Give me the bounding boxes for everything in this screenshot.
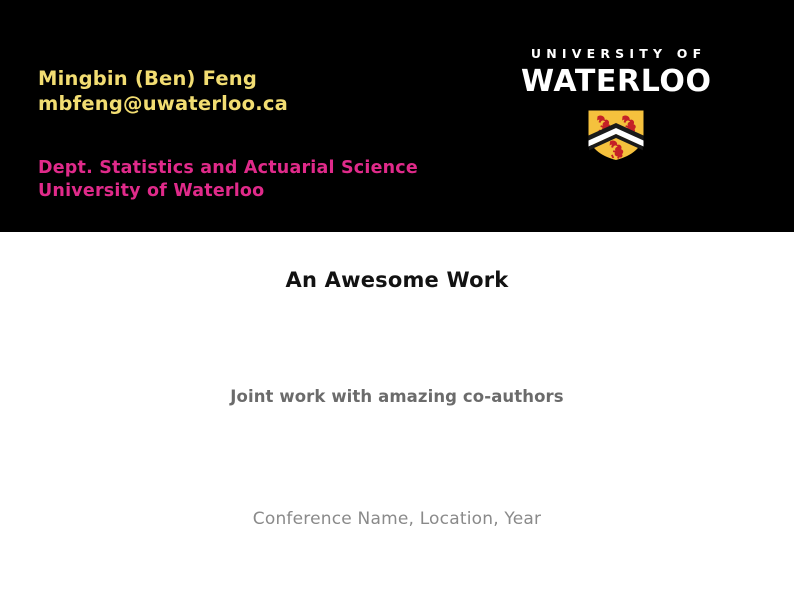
coauthors-line: Joint work with amazing co-authors	[0, 387, 794, 406]
author-block: Mingbin (Ben) Feng mbfeng@uwaterloo.ca	[38, 66, 288, 117]
conference-line: Conference Name, Location, Year	[0, 509, 794, 529]
author-email[interactable]: mbfeng@uwaterloo.ca	[38, 91, 288, 116]
waterloo-shield-icon	[582, 104, 650, 166]
affiliation-institution: University of Waterloo	[38, 180, 418, 203]
affiliation-block: Dept. Statistics and Actuarial Science U…	[38, 157, 418, 203]
affiliation-department: Dept. Statistics and Actuarial Science	[38, 157, 418, 180]
author-name: Mingbin (Ben) Feng	[38, 66, 288, 91]
university-of-waterloo-logo: UNIVERSITY OF WATERLOO	[521, 48, 711, 166]
slide-body: An Awesome Work Joint work with amazing …	[0, 232, 794, 596]
header-band: Mingbin (Ben) Feng mbfeng@uwaterloo.ca D…	[0, 0, 794, 232]
logo-waterloo-wordmark: WATERLOO	[521, 66, 711, 98]
logo-university-of-text: UNIVERSITY OF	[521, 48, 711, 61]
title-slide: Mingbin (Ben) Feng mbfeng@uwaterloo.ca D…	[0, 0, 794, 596]
talk-title: An Awesome Work	[0, 268, 794, 292]
